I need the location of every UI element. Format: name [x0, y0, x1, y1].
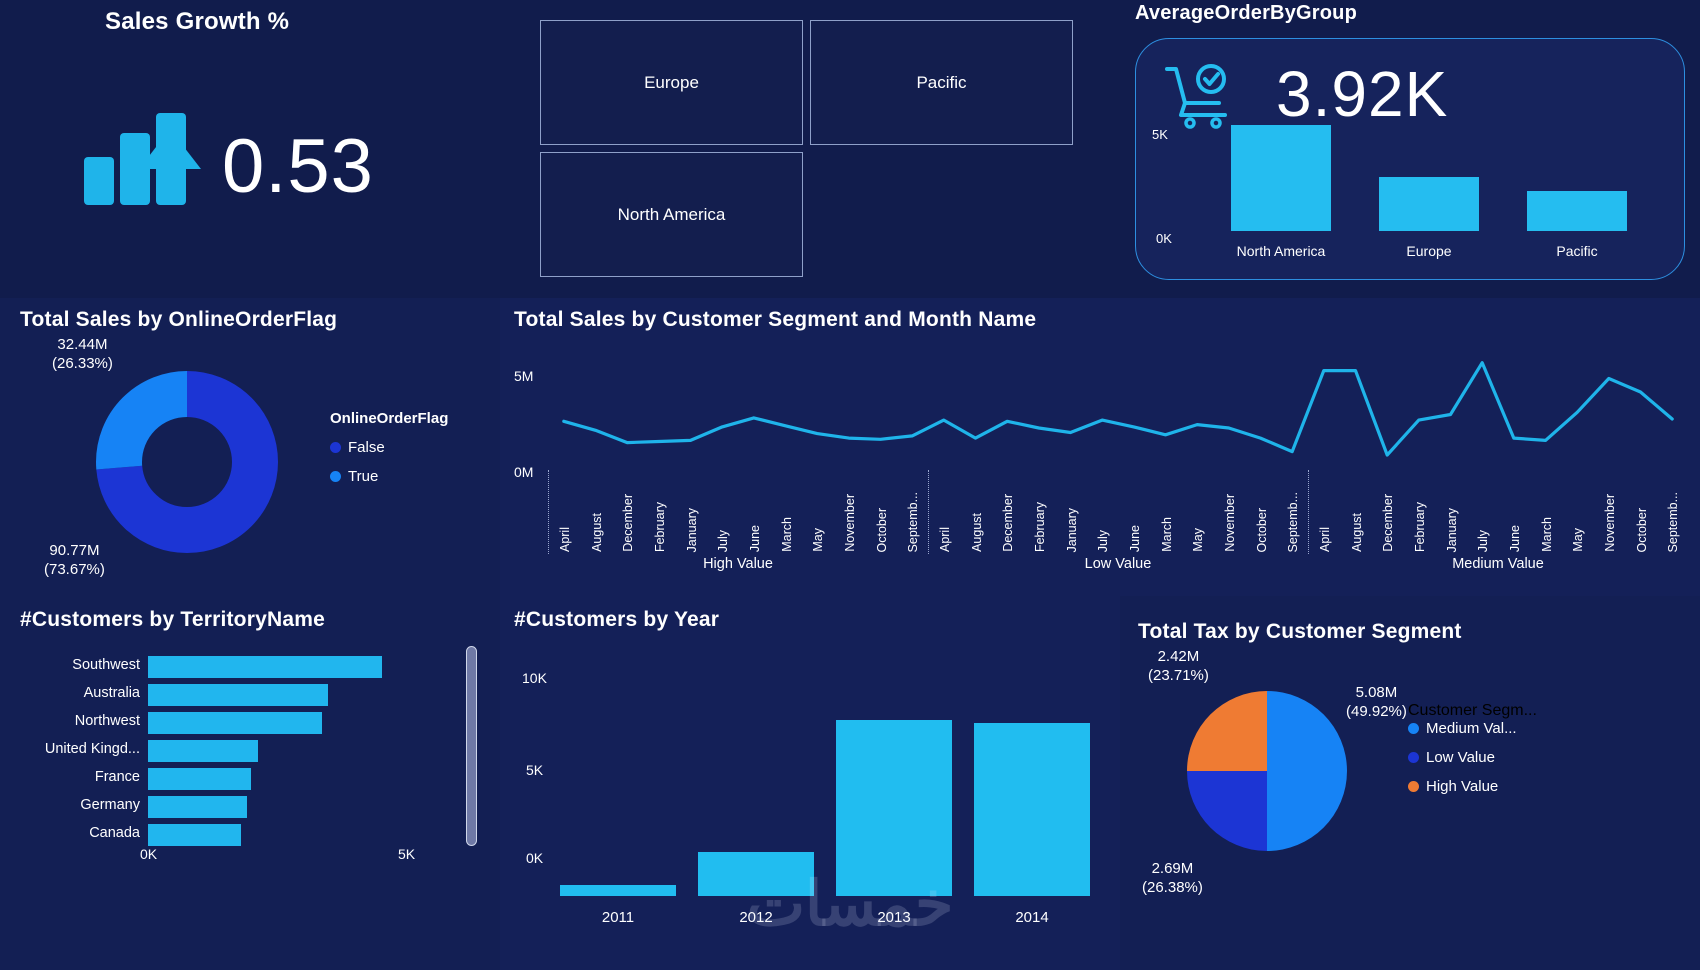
line-group-separator [1308, 470, 1309, 554]
territory-bar[interactable] [148, 824, 241, 846]
territory-chart-title: #Customers by TerritoryName [20, 608, 325, 632]
line-month-tick: February [1033, 502, 1047, 552]
line-month-tick: April [938, 527, 952, 552]
territory-bar-label: United Kingd... [45, 741, 140, 757]
territory-bar-row[interactable]: United Kingd... [148, 740, 408, 762]
line-month-axis: AprilAugustDecemberFebruaryJanuaryJulyJu… [548, 472, 1688, 552]
pie-label-high-value: 2.42M (23.71%) [1148, 648, 1209, 686]
average-order-value: 3.92K [1276, 57, 1448, 131]
line-month-tick: March [1540, 517, 1554, 552]
total-sales-by-segment-and-month-chart[interactable]: Total Sales by Customer Segment and Mont… [500, 298, 1700, 596]
line-month-tick: October [1255, 508, 1269, 552]
line-month-tick: January [1445, 508, 1459, 552]
line-chart-title: Total Sales by Customer Segment and Mont… [514, 308, 1036, 332]
shopping-cart-check-icon [1164, 63, 1240, 129]
pie-legend-label-medium: Medium Val... [1426, 720, 1517, 737]
territory-bar[interactable] [148, 712, 322, 734]
pie-label-high-value-pct: (23.71%) [1148, 667, 1209, 684]
territory-bar[interactable] [148, 656, 382, 678]
line-month-tick: July [1476, 530, 1490, 552]
territory-bar-row[interactable]: France [148, 768, 408, 790]
line-month-tick: May [811, 528, 825, 552]
territory-bar-label: Southwest [72, 657, 140, 673]
line-month-tick: October [1635, 508, 1649, 552]
territory-bar-row[interactable]: Australia [148, 684, 408, 706]
donut-legend-label-false: False [348, 439, 385, 456]
pie-legend-title: Customer Segm... [1408, 702, 1537, 720]
year-bar-label: 2014 [974, 909, 1090, 926]
year-chart-title: #Customers by Year [514, 608, 719, 632]
year-bar[interactable] [974, 723, 1090, 896]
pie-chart-title: Total Tax by Customer Segment [1138, 620, 1462, 644]
territory-bar[interactable] [148, 740, 258, 762]
year-bar[interactable] [698, 852, 814, 896]
line-month-tick: February [1413, 502, 1427, 552]
line-month-tick: May [1191, 528, 1205, 552]
territory-bar-row[interactable]: Germany [148, 796, 408, 818]
line-month-tick: August [590, 513, 604, 552]
line-month-tick: January [1065, 508, 1079, 552]
pie-label-low-value-amount: 2.69M [1152, 860, 1194, 877]
average-order-ytick-5k: 5K [1152, 127, 1168, 142]
sales-growth-content: 0.53 [80, 95, 374, 205]
line-month-tick: March [1160, 517, 1174, 552]
line-month-tick: March [780, 517, 794, 552]
average-order-bar[interactable] [1527, 191, 1627, 231]
line-month-tick: June [748, 525, 762, 552]
pie-slice-medium-value[interactable] [1267, 691, 1347, 851]
donut-legend-label-true: True [348, 468, 378, 485]
customers-by-year-chart[interactable]: #Customers by Year 10K 5K 0K 20112012201… [500, 596, 1120, 970]
territory-bar[interactable] [148, 684, 328, 706]
donut-legend-item-true[interactable]: True [330, 468, 448, 485]
pie-label-medium-value: 5.08M (49.92%) [1346, 684, 1407, 722]
territory-xtick-5k: 5K [398, 846, 415, 862]
line-series [548, 338, 1688, 473]
donut-label-false-pct: (73.67%) [44, 561, 105, 578]
line-month-tick: February [653, 502, 667, 552]
line-ytick-5m: 5M [514, 368, 533, 384]
territory-bar-label: Germany [80, 797, 140, 813]
year-bar[interactable] [836, 720, 952, 896]
pie-legend-label-high: High Value [1426, 778, 1498, 795]
year-ytick-5k: 5K [526, 762, 543, 778]
average-order-title: AverageOrderByGroup [1135, 2, 1357, 25]
line-month-tick: January [685, 508, 699, 552]
territory-bar[interactable] [148, 796, 247, 818]
line-month-tick: August [970, 513, 984, 552]
average-order-by-group-card[interactable]: AverageOrderByGroup 3.92K 5K 0K North Am… [1120, 0, 1700, 298]
legend-swatch-false [330, 442, 341, 453]
year-bar-label: 2012 [698, 909, 814, 926]
line-month-tick: December [1381, 494, 1395, 552]
pie-legend-item-medium[interactable]: Medium Val... [1408, 720, 1537, 737]
line-month-tick: December [621, 494, 635, 552]
territory-bar-label: Northwest [75, 713, 140, 729]
line-group-label: High Value [668, 556, 808, 572]
donut-legend: OnlineOrderFlag False True [330, 410, 448, 497]
pie-graphic[interactable] [1182, 686, 1352, 856]
pie-label-medium-value-amount: 5.08M [1356, 684, 1398, 701]
dashboard-canvas: Sales Growth % 0.53 Europe Pacific North… [0, 0, 1700, 970]
average-order-bar[interactable] [1379, 177, 1479, 231]
donut-legend-title: OnlineOrderFlag [330, 410, 448, 427]
territory-bar-row[interactable]: Northwest [148, 712, 408, 734]
line-month-tick: April [558, 527, 572, 552]
total-sales-by-onlineorderflag-chart[interactable]: Total Sales by OnlineOrderFlag 32.44M (2… [0, 298, 500, 596]
average-order-bar-label: Europe [1379, 243, 1479, 259]
line-group-label: Low Value [1048, 556, 1188, 572]
sales-growth-card[interactable]: Sales Growth % 0.53 [0, 0, 520, 298]
average-order-bar-label: North America [1231, 243, 1331, 259]
territory-bar-label: France [95, 769, 140, 785]
customers-by-territoryname-chart[interactable]: #Customers by TerritoryName SouthwestAus… [0, 596, 500, 970]
legend-swatch-high-value [1408, 781, 1419, 792]
line-month-tick: November [843, 494, 857, 552]
average-order-bar[interactable] [1231, 125, 1331, 231]
donut-label-true-value: 32.44M [57, 336, 107, 353]
territory-bar[interactable] [148, 768, 251, 790]
line-month-tick: June [1128, 525, 1142, 552]
territory-scrollbar-thumb[interactable] [466, 646, 477, 846]
donut-label-false: 90.77M (73.67%) [44, 542, 105, 580]
slicer-tile-pacific[interactable]: Pacific [810, 20, 1073, 145]
legend-swatch-true [330, 471, 341, 482]
average-order-inner-frame: 3.92K 5K 0K North AmericaEuropePacific [1135, 38, 1685, 280]
territory-bar-row[interactable]: Canada [148, 824, 408, 846]
average-order-ytick-0k: 0K [1156, 231, 1172, 246]
line-month-tick: Septemb... [906, 492, 920, 552]
pie-legend-item-low[interactable]: Low Value [1408, 749, 1537, 766]
bar-growth-arrow-icon [80, 95, 200, 205]
line-month-tick: June [1508, 525, 1522, 552]
donut-label-false-value: 90.77M [49, 542, 99, 559]
line-month-tick: April [1318, 527, 1332, 552]
donut-label-true: 32.44M (26.33%) [52, 336, 113, 374]
sales-growth-value: 0.53 [222, 129, 374, 205]
line-ytick-0m: 0M [514, 464, 533, 480]
donut-title: Total Sales by OnlineOrderFlag [20, 308, 337, 332]
territory-bar-row[interactable]: Southwest [148, 656, 408, 678]
line-month-tick: May [1571, 528, 1585, 552]
line-month-tick: December [1001, 494, 1015, 552]
donut-legend-item-false[interactable]: False [330, 439, 448, 456]
territory-group-slicer[interactable]: Europe Pacific North America [520, 0, 1120, 298]
territory-bar-label: Australia [84, 685, 140, 701]
donut-graphic[interactable] [95, 370, 279, 554]
line-month-tick: October [875, 508, 889, 552]
territory-bar-label: Canada [89, 825, 140, 841]
line-group-separator [928, 470, 929, 554]
line-month-tick: Septemb... [1666, 492, 1680, 552]
year-bar[interactable] [560, 885, 676, 896]
territory-xtick-0k: 0K [140, 846, 157, 862]
pie-slice-high-value[interactable] [1187, 691, 1267, 771]
pie-legend: Customer Segm... Medium Val... Low Value… [1408, 702, 1537, 807]
sales-growth-title: Sales Growth % [105, 8, 289, 36]
legend-swatch-low-value [1408, 752, 1419, 763]
pie-label-high-value-amount: 2.42M [1158, 648, 1200, 665]
year-ytick-0k: 0K [526, 850, 543, 866]
legend-swatch-medium-value [1408, 723, 1419, 734]
slicer-tile-north-america[interactable]: North America [540, 152, 803, 277]
line-group-separator [548, 470, 549, 554]
line-month-tick: November [1603, 494, 1617, 552]
pie-legend-item-high[interactable]: High Value [1408, 778, 1537, 795]
line-month-tick: August [1350, 513, 1364, 552]
total-tax-by-customer-segment-chart[interactable]: Total Tax by Customer Segment 2.42M (23.… [1120, 596, 1700, 970]
average-order-bar-label: Pacific [1527, 243, 1627, 259]
line-month-tick: July [1096, 530, 1110, 552]
line-month-tick: Septemb... [1286, 492, 1300, 552]
pie-label-low-value: 2.69M (26.38%) [1142, 860, 1203, 898]
line-group-label: Medium Value [1428, 556, 1568, 572]
donut-label-true-pct: (26.33%) [52, 355, 113, 372]
year-bar-label: 2013 [836, 909, 952, 926]
pie-label-low-value-pct: (26.38%) [1142, 879, 1203, 896]
slicer-tile-europe[interactable]: Europe [540, 20, 803, 145]
line-month-tick: November [1223, 494, 1237, 552]
pie-label-medium-value-pct: (49.92%) [1346, 703, 1407, 720]
line-month-tick: July [716, 530, 730, 552]
pie-slice-low-value[interactable] [1187, 771, 1267, 851]
year-bar-label: 2011 [560, 909, 676, 926]
pie-legend-label-low: Low Value [1426, 749, 1495, 766]
year-ytick-10k: 10K [522, 670, 547, 686]
